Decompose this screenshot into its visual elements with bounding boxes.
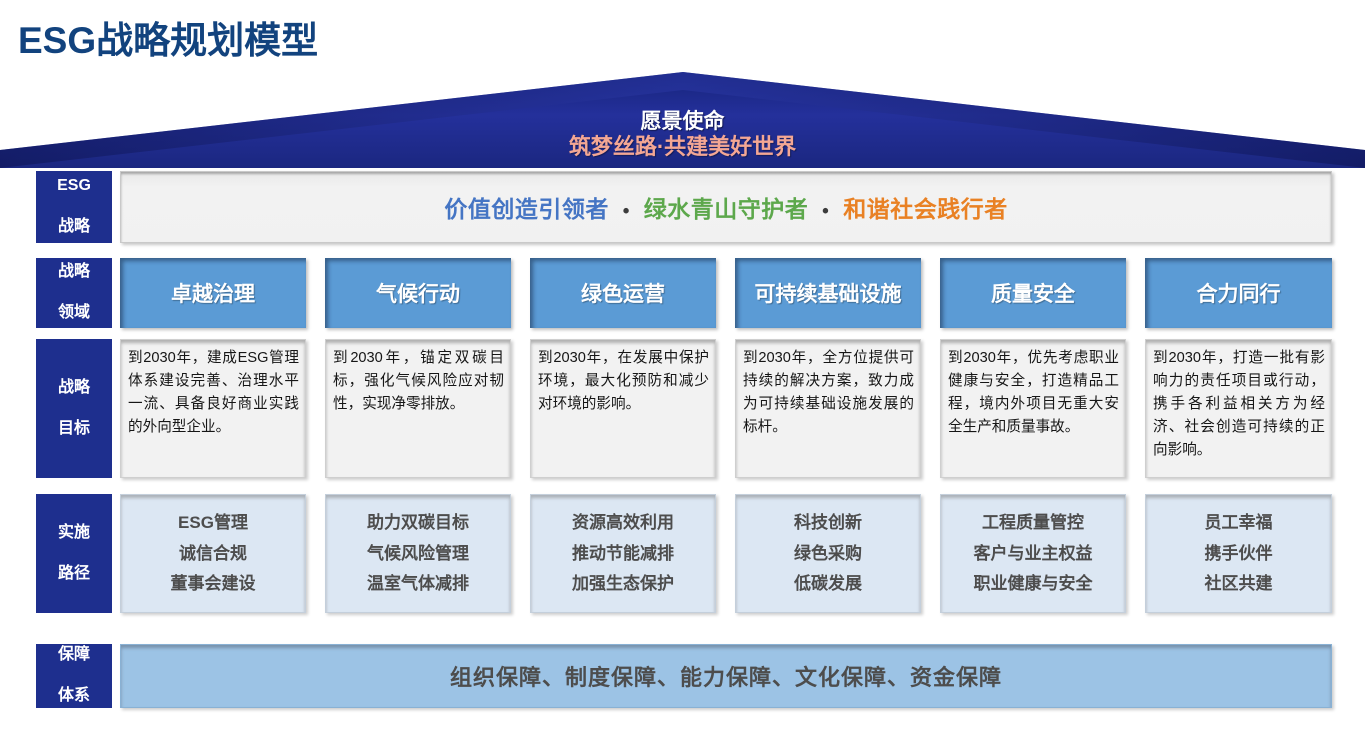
goal-card-governance: 到2030年，建成ESG管理体系建设完善、治理水平一流、具备良好商业实践的外向型…: [120, 339, 306, 478]
row-label-strategic-goals-line1: 战略: [58, 378, 90, 398]
path-item: 气候风险管理: [367, 541, 469, 567]
esg-separator-2: •: [815, 201, 836, 222]
esg-pillar-green-guardian: 绿水青山守护者: [644, 196, 809, 222]
strategic-goals-row: 到2030年，建成ESG管理体系建设完善、治理水平一流、具备良好商业实践的外向型…: [120, 339, 1332, 478]
row-label-implementation-paths: 实施 路径: [36, 494, 112, 613]
path-card-climate-action[interactable]: 助力双碳目标 气候风险管理 温室气体减排: [325, 494, 511, 613]
path-item: 携手伙伴: [1205, 541, 1273, 567]
row-label-guarantee-system-line2: 体系: [58, 686, 90, 706]
path-item: 社区共建: [1205, 571, 1273, 597]
goal-card-collaboration: 到2030年，打造一批有影响力的责任项目或行动，携手各利益相关方为经济、社会创造…: [1145, 339, 1332, 478]
path-item: 客户与业主权益: [974, 541, 1093, 567]
goal-card-quality-safety: 到2030年，优先考虑职业健康与安全，打造精品工程，境内外项目无重大安全生产和质…: [940, 339, 1126, 478]
implementation-paths-row: ESG管理 诚信合规 董事会建设 助力双碳目标 气候风险管理 温室气体减排 资源…: [120, 494, 1332, 613]
row-label-guarantee-system-line1: 保障: [58, 645, 90, 665]
path-item: 推动节能减排: [572, 541, 674, 567]
vision-roof-shape: [0, 72, 1365, 168]
domain-card-climate-action[interactable]: 气候行动: [325, 258, 511, 328]
roof-polygon-icon: [0, 72, 1365, 168]
esg-pillar-harmonious-society: 和谐社会践行者: [843, 196, 1008, 222]
row-label-esg-strategy: ESG 战略: [36, 171, 112, 243]
row-label-strategic-domains: 战略 领域: [36, 258, 112, 328]
path-card-green-operation[interactable]: 资源高效利用 推动节能减排 加强生态保护: [530, 494, 716, 613]
path-item: 科技创新: [794, 510, 862, 536]
path-item: 绿色采购: [794, 541, 862, 567]
esg-pillar-value-creation: 价值创造引领者: [444, 196, 609, 222]
esg-separator-1: •: [616, 201, 637, 222]
path-item: 加强生态保护: [572, 571, 674, 597]
row-label-guarantee-system: 保障 体系: [36, 644, 112, 708]
row-label-implementation-paths-line1: 实施: [58, 523, 90, 543]
row-label-implementation-paths-line2: 路径: [58, 564, 90, 584]
domain-card-governance[interactable]: 卓越治理: [120, 258, 306, 328]
path-item: 资源高效利用: [572, 510, 674, 536]
domain-card-collaboration[interactable]: 合力同行: [1145, 258, 1332, 328]
path-item: 工程质量管控: [982, 510, 1084, 536]
path-item: ESG管理: [178, 510, 248, 536]
guarantee-system-text: 组织保障、制度保障、能力保障、文化保障、资金保障: [450, 660, 1002, 692]
path-card-collaboration[interactable]: 员工幸福 携手伙伴 社区共建: [1145, 494, 1332, 613]
row-label-strategic-domains-line2: 领域: [58, 303, 90, 323]
domain-card-sustainable-infrastructure[interactable]: 可持续基础设施: [735, 258, 921, 328]
domain-card-green-operation[interactable]: 绿色运营: [530, 258, 716, 328]
row-label-strategic-goals: 战略 目标: [36, 339, 112, 478]
row-label-strategic-domains-line1: 战略: [58, 262, 90, 282]
esg-strategy-band: 价值创造引领者 • 绿水青山守护者 • 和谐社会践行者: [120, 171, 1332, 243]
domain-card-quality-safety[interactable]: 质量安全: [940, 258, 1126, 328]
path-item: 职业健康与安全: [974, 571, 1093, 597]
guarantee-system-band: 组织保障、制度保障、能力保障、文化保障、资金保障: [120, 644, 1332, 708]
path-item: 诚信合规: [179, 541, 247, 567]
strategic-domains-row: 卓越治理 气候行动 绿色运营 可持续基础设施 质量安全 合力同行: [120, 258, 1332, 328]
goal-card-green-operation: 到2030年，在发展中保护环境，最大化预防和减少对环境的影响。: [530, 339, 716, 478]
path-card-quality-safety[interactable]: 工程质量管控 客户与业主权益 职业健康与安全: [940, 494, 1126, 613]
row-label-strategic-goals-line2: 目标: [58, 419, 90, 439]
goal-card-climate-action: 到2030年，锚定双碳目标，强化气候风险应对韧性，实现净零排放。: [325, 339, 511, 478]
esg-strategy-text: 价值创造引领者 • 绿水青山守护者 • 和谐社会践行者: [444, 190, 1007, 224]
path-card-governance[interactable]: ESG管理 诚信合规 董事会建设: [120, 494, 306, 613]
path-item: 低碳发展: [794, 571, 862, 597]
goal-card-sustainable-infrastructure: 到2030年，全方位提供可持续的解决方案，致力成为可持续基础设施发展的标杆。: [735, 339, 921, 478]
page-title: ESG战略规划模型: [18, 22, 318, 59]
row-label-esg-strategy-line2: 战略: [57, 217, 91, 237]
row-label-esg-strategy-line1: ESG: [57, 176, 91, 196]
path-item: 董事会建设: [171, 571, 256, 597]
esg-strategy-diagram: ESG战略规划模型: [0, 0, 1365, 736]
path-item: 温室气体减排: [367, 571, 469, 597]
path-card-sustainable-infrastructure[interactable]: 科技创新 绿色采购 低碳发展: [735, 494, 921, 613]
path-item: 员工幸福: [1205, 510, 1273, 536]
path-item: 助力双碳目标: [367, 510, 469, 536]
